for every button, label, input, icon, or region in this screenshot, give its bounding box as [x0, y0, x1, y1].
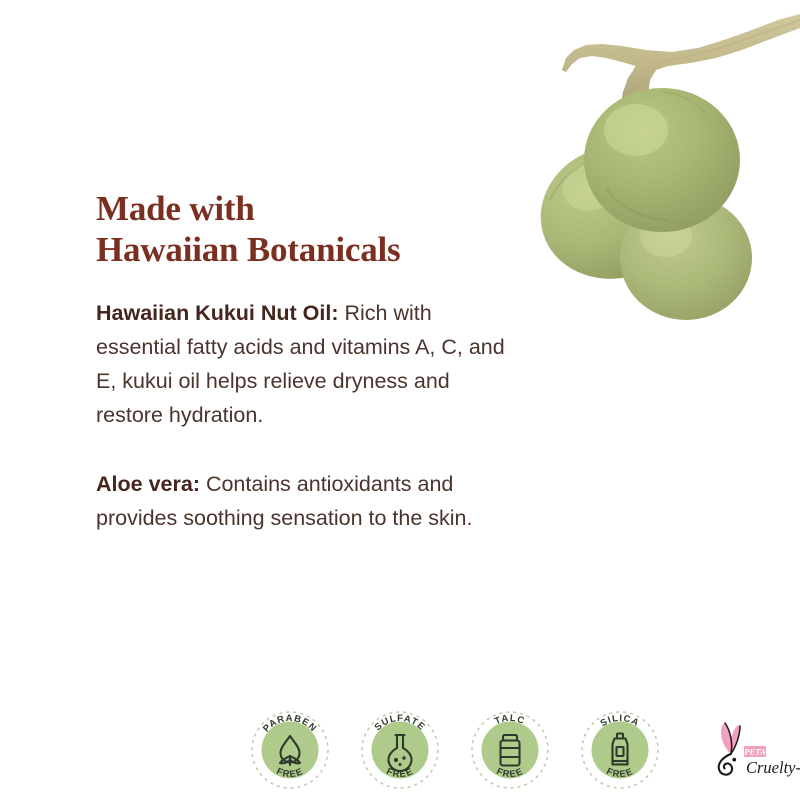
- peta-bunny-icon: [719, 723, 740, 775]
- badge-silica-free: SILICA FREE: [578, 708, 662, 792]
- hero-image: [510, 0, 800, 320]
- peta-cruelty-free-logo: PETA Cruelty-Free: [702, 714, 800, 786]
- badge-sulfate-free: SULFATE FREE: [358, 708, 442, 792]
- peta-mark-text: PETA: [744, 747, 766, 757]
- ingredient-paragraph-kukui: Hawaiian Kukui Nut Oil: Rich with essent…: [96, 297, 516, 433]
- page-title: Made with Hawaiian Botanicals: [96, 188, 516, 271]
- ingredient-paragraph-aloe: Aloe vera: Contains antioxidants and pro…: [96, 468, 516, 536]
- badge-talc-free: TALC FREE: [468, 708, 552, 792]
- peta-wordmark: Cruelty-Free: [746, 758, 800, 777]
- copy-block: Made with Hawaiian Botanicals Hawaiian K…: [96, 188, 516, 536]
- ingredient-separator-kukui: :: [331, 301, 344, 325]
- kukui-nut-top: [584, 88, 740, 232]
- badge-paraben-free: PARABEN FREE: [248, 708, 332, 792]
- ingredient-separator-aloe: :: [193, 472, 206, 496]
- page-title-line-2: Hawaiian Botanicals: [96, 229, 516, 270]
- ingredient-name-kukui: Hawaiian Kukui Nut Oil: [96, 301, 331, 325]
- certification-badge-strip: PARABEN FREE: [248, 706, 800, 794]
- page-title-line-1: Made with: [96, 188, 516, 229]
- ingredient-name-aloe: Aloe vera: [96, 472, 193, 496]
